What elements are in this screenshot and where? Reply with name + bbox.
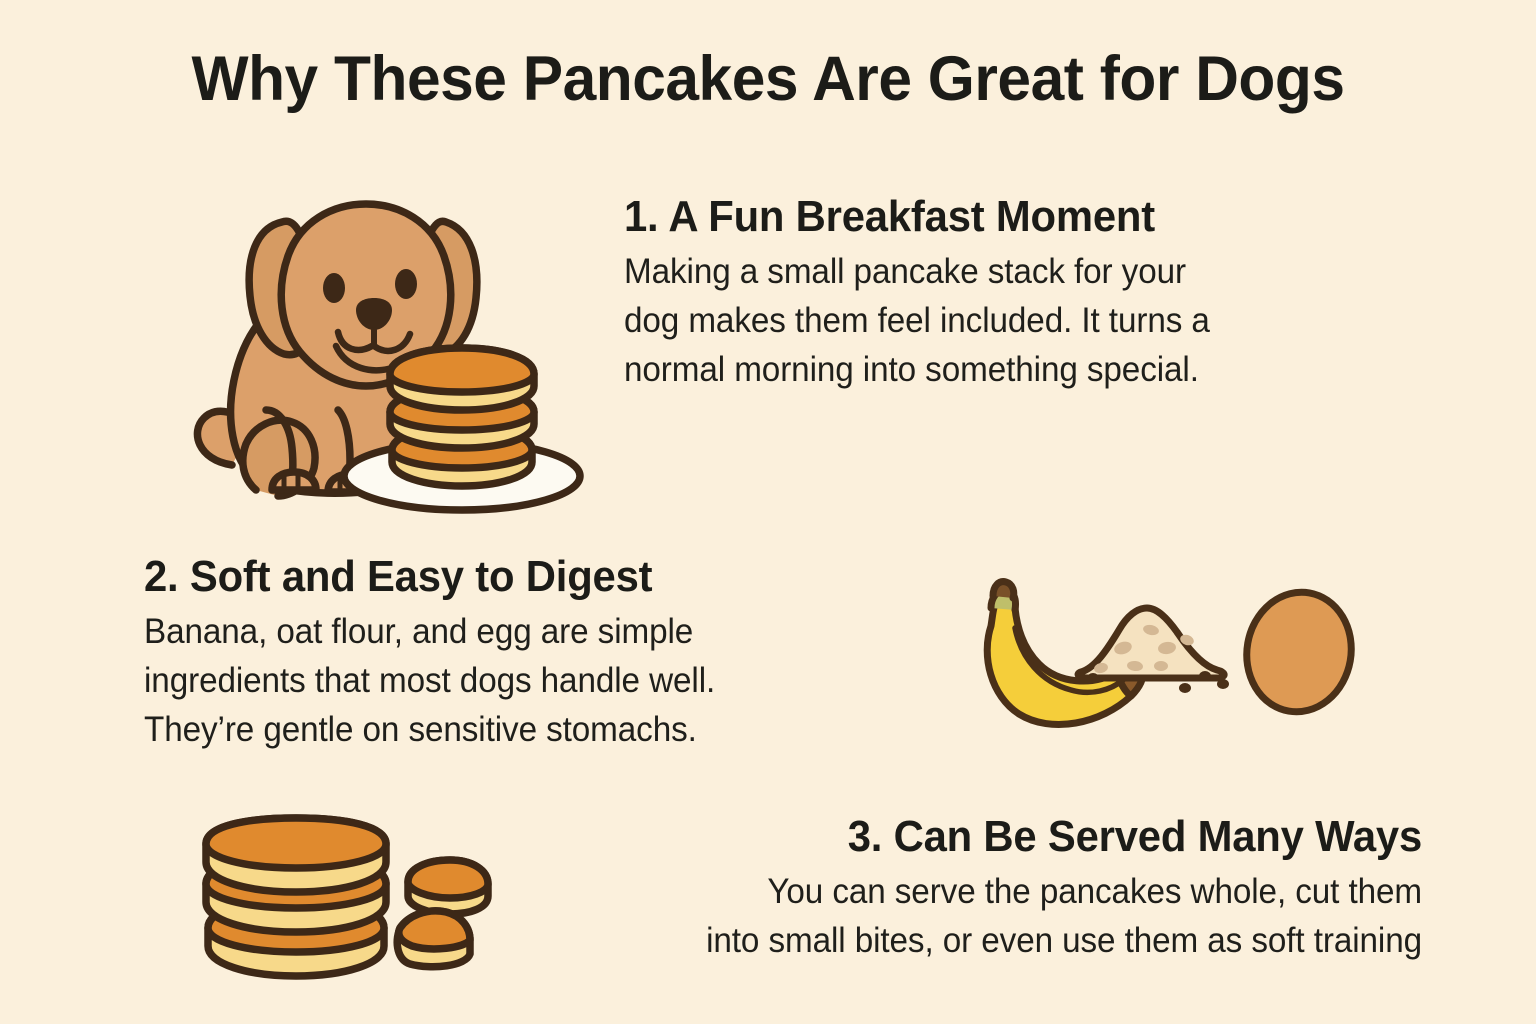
section-1: 1. A Fun Breakfast Moment Making a small… [624, 192, 1414, 394]
section-1-body-line-1: Making a small pancake stack for your [624, 247, 1375, 296]
section-2-body-line-1: Banana, oat flour, and egg are simple [144, 607, 895, 656]
section-2-body-line-3: They’re gentle on sensitive stomachs. [144, 705, 895, 754]
infographic-page: Why These Pancakes Are Great for Dogs [0, 0, 1536, 1024]
banana-oat-flour-egg-illustration [955, 572, 1375, 742]
section-1-heading: 1. A Fun Breakfast Moment [624, 192, 1375, 241]
section-1-body: Making a small pancake stack for your do… [624, 247, 1375, 394]
dog-with-pancakes-illustration [160, 160, 590, 525]
section-1-illustration [160, 160, 590, 525]
section-2-heading: 2. Soft and Easy to Digest [144, 552, 895, 601]
section-3-body-line-1: You can serve the pancakes whole, cut th… [480, 867, 1422, 916]
section-2-body: Banana, oat flour, and egg are simple in… [144, 607, 895, 754]
section-3: 3. Can Be Served Many Ways You can serve… [430, 812, 1422, 965]
section-3-heading: 3. Can Be Served Many Ways [480, 812, 1422, 861]
pancake-stack-illustration [206, 818, 386, 976]
section-2-illustration [955, 572, 1375, 742]
section-2: 2. Soft and Easy to Digest Banana, oat f… [144, 552, 934, 754]
dog-eye-right [395, 269, 417, 299]
egg-illustration [1237, 584, 1360, 720]
page-title: Why These Pancakes Are Great for Dogs [31, 46, 1506, 112]
section-3-body-line-2: into small bites, or even use them as so… [480, 916, 1422, 965]
section-3-body: You can serve the pancakes whole, cut th… [480, 867, 1422, 965]
section-1-body-line-3: normal morning into something special. [624, 345, 1375, 394]
section-2-body-line-2: ingredients that most dogs handle well. [144, 656, 895, 705]
section-1-body-line-2: dog makes them feel included. It turns a [624, 296, 1375, 345]
oat-flour-mound-illustration [1078, 608, 1229, 693]
dog-eye-left [323, 273, 345, 303]
